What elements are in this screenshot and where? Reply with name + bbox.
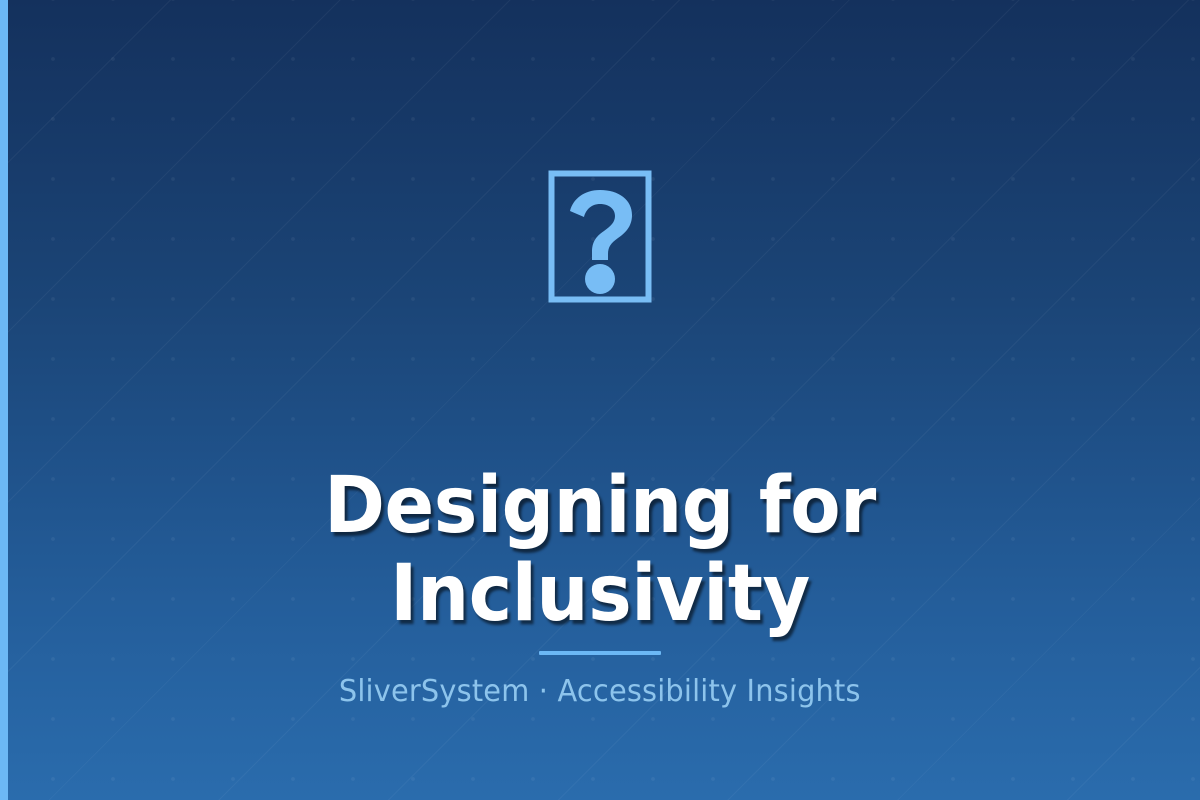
slide-subtitle: SliverSystem · Accessibility Insights <box>339 673 861 711</box>
slide-title: Designing for Inclusivity <box>36 462 1164 638</box>
question-mark-in-box-icon <box>548 170 652 303</box>
divider-wrap <box>0 651 1200 655</box>
title-block: Designing for Inclusivity <box>0 462 1200 638</box>
question-mark-stem <box>570 190 632 260</box>
title-divider <box>539 651 661 655</box>
icon-badge <box>0 170 1200 303</box>
slide-content: Designing for Inclusivity SliverSystem ·… <box>0 0 1200 800</box>
subtitle-wrap: SliverSystem · Accessibility Insights <box>0 673 1200 711</box>
title-slide: Designing for Inclusivity SliverSystem ·… <box>0 0 1200 800</box>
question-mark-dot <box>585 264 615 294</box>
